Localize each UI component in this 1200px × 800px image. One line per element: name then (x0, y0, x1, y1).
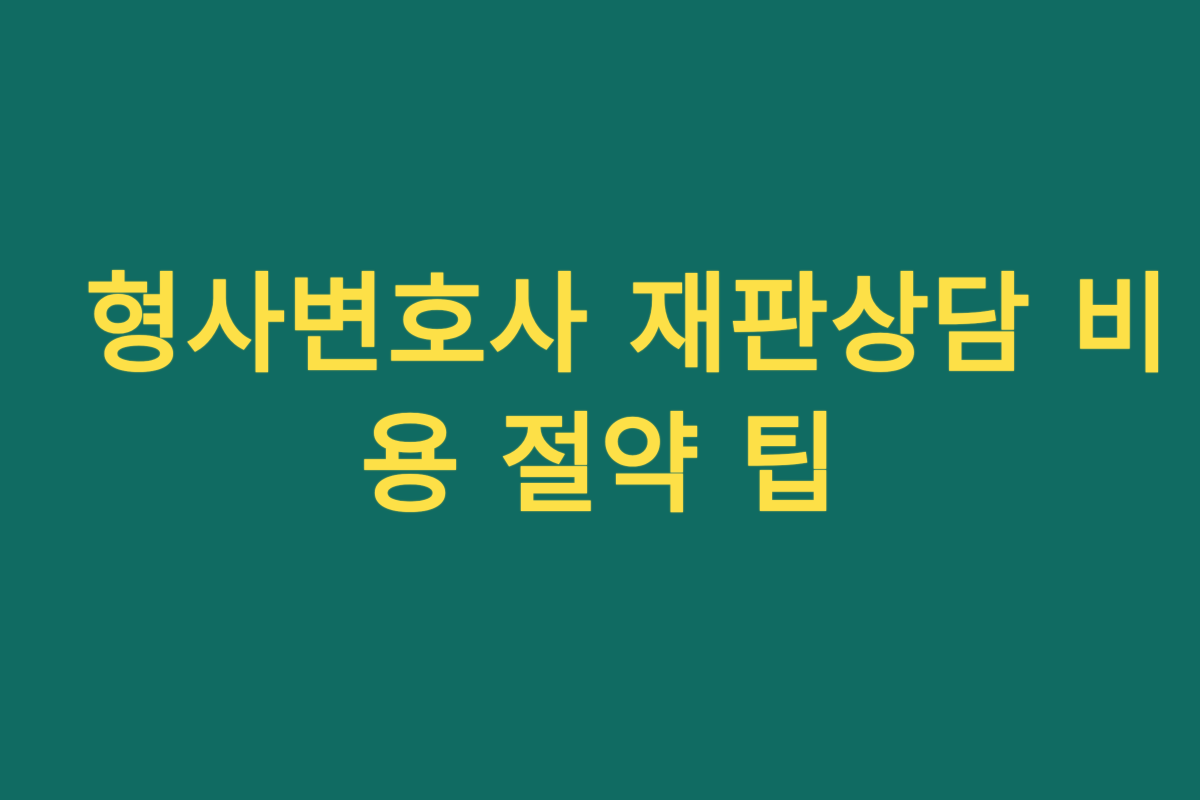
page-title: 형사변호사 재판상담 비 용 절약 팁 (85, 256, 1115, 536)
title-line-1: 형사변호사 재판상담 비 (85, 256, 1115, 396)
banner-canvas: 형사변호사 재판상담 비 용 절약 팁 (0, 0, 1200, 800)
title-line-2: 용 절약 팁 (85, 396, 1115, 536)
